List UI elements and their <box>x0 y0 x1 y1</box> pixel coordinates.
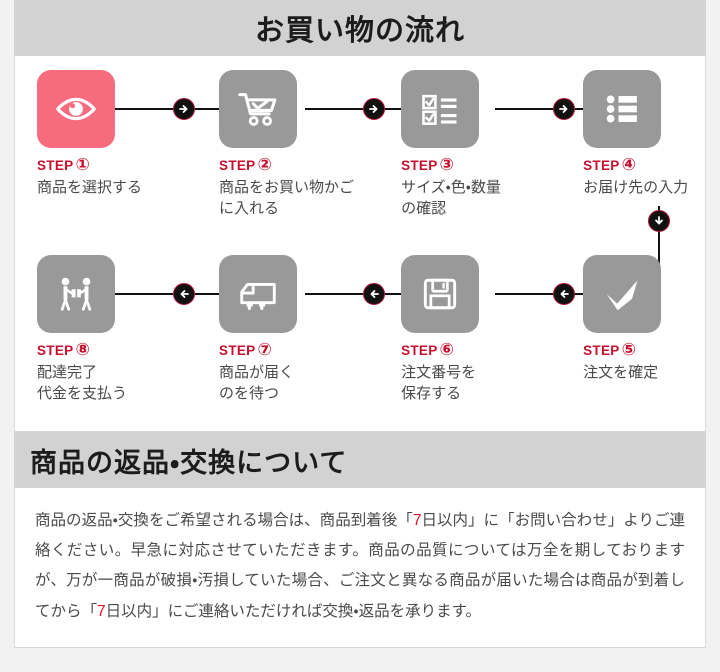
step-8-tile <box>37 255 115 333</box>
returns-paragraph: 商品の返品・交換をご希望される場合は、商品到着後「7日以内」に「お問い合わせ」よ… <box>15 488 705 647</box>
returns-highlight-2: 7 <box>97 603 106 620</box>
step-6-number: ⑥ <box>440 341 455 358</box>
step-7-text: 商品が届く のを待つ <box>219 362 379 405</box>
checkmark-icon <box>599 271 645 317</box>
rail-1-2 <box>115 108 221 110</box>
step-6-text: 注文番号を 保存する <box>401 362 561 405</box>
step-8-number: ⑧ <box>75 341 90 358</box>
step-1-text: 商品を選択する <box>37 177 197 198</box>
rail-7-6 <box>305 293 411 295</box>
step-5-label: STEP⑤ <box>583 342 705 359</box>
step-6-word: STEP <box>401 343 437 358</box>
arrow-2-to-3 <box>363 98 385 120</box>
step-1-label: STEP① <box>37 157 197 174</box>
truck-icon <box>235 271 281 317</box>
returns-panel: 商品の返品・交換をご希望される場合は、商品到着後「7日以内」に「お問い合わせ」よ… <box>14 488 706 648</box>
step-2-text: 商品をお買い物かご に入れる <box>219 177 379 220</box>
page-root: お買い物の流れ <box>0 0 720 672</box>
rail-2-3 <box>305 108 411 110</box>
flow-row-2: STEP⑧ 配達完了 代金を支払う STEP⑦ <box>15 241 705 431</box>
eye-icon <box>53 86 99 132</box>
step-5-number: ⑤ <box>622 341 637 358</box>
step-7-tile <box>219 255 297 333</box>
step-7-word: STEP <box>219 343 255 358</box>
returns-text-part-1: 商品の返品・交換をご希望される場合は、商品到着後「 <box>35 512 413 529</box>
handover-icon <box>53 271 99 317</box>
step-3-label: STEP③ <box>401 157 561 174</box>
flow-step-8[interactable]: STEP⑧ 配達完了 代金を支払う <box>15 241 197 431</box>
step-2-label: STEP② <box>219 157 379 174</box>
returns-section-title: 商品の返品・交換について <box>14 432 706 488</box>
flow-step-2[interactable]: STEP② 商品をお買い物かご に入れる <box>197 56 379 241</box>
cart-check-icon <box>235 86 281 132</box>
flow-section-title: お買い物の流れ <box>14 0 706 56</box>
step-8-text: 配達完了 代金を支払う <box>37 362 197 405</box>
checklist-icon <box>418 87 462 131</box>
step-2-word: STEP <box>219 158 255 173</box>
step-1-word: STEP <box>37 158 73 173</box>
step-8-word: STEP <box>37 343 73 358</box>
step-3-number: ③ <box>440 156 455 173</box>
flow-row-1: STEP① 商品を選択する STEP② <box>15 56 705 241</box>
flow-step-7[interactable]: STEP⑦ 商品が届く のを待つ <box>197 241 379 431</box>
bullet-list-icon <box>601 88 643 130</box>
step-4-word: STEP <box>583 158 619 173</box>
flow-step-6[interactable]: STEP⑥ 注文番号を 保存する <box>379 241 561 431</box>
arrow-5-to-6 <box>553 283 575 305</box>
step-5-word: STEP <box>583 343 619 358</box>
step-5-tile <box>583 255 661 333</box>
flow-step-4[interactable]: STEP④ お届け先の入力 <box>561 56 705 241</box>
step-6-tile <box>401 255 479 333</box>
step-1-number: ① <box>75 156 90 173</box>
arrow-7-to-8 <box>173 283 195 305</box>
step-3-tile <box>401 70 479 148</box>
step-2-tile <box>219 70 297 148</box>
step-3-text: サイズ・色・数量 の確認 <box>401 177 561 220</box>
arrow-1-to-2 <box>173 98 195 120</box>
returns-text-part-3: 日以内」にご連絡いただければ交換・返品を承ります。 <box>106 603 481 620</box>
step-3-word: STEP <box>401 158 437 173</box>
step-4-label: STEP④ <box>583 157 705 174</box>
step-7-label: STEP⑦ <box>219 342 379 359</box>
flow-step-5[interactable]: STEP⑤ 注文を確定 <box>561 241 705 431</box>
flow-step-1[interactable]: STEP① 商品を選択する <box>15 56 197 241</box>
step-8-label: STEP⑧ <box>37 342 197 359</box>
step-2-number: ② <box>258 156 273 173</box>
rail-8-7 <box>115 293 221 295</box>
flow-panel: STEP① 商品を選択する STEP② <box>14 56 706 432</box>
arrow-6-to-7 <box>363 283 385 305</box>
step-4-tile <box>583 70 661 148</box>
arrow-4-to-5 <box>648 210 670 232</box>
step-5-text: 注文を確定 <box>583 362 705 383</box>
arrow-3-to-4 <box>553 98 575 120</box>
flow-step-3[interactable]: STEP③ サイズ・色・数量 の確認 <box>379 56 561 241</box>
step-1-tile <box>37 70 115 148</box>
step-6-label: STEP⑥ <box>401 342 561 359</box>
step-7-number: ⑦ <box>258 341 273 358</box>
step-4-number: ④ <box>622 156 637 173</box>
save-disk-icon <box>418 272 462 316</box>
step-4-text: お届け先の入力 <box>583 177 705 198</box>
